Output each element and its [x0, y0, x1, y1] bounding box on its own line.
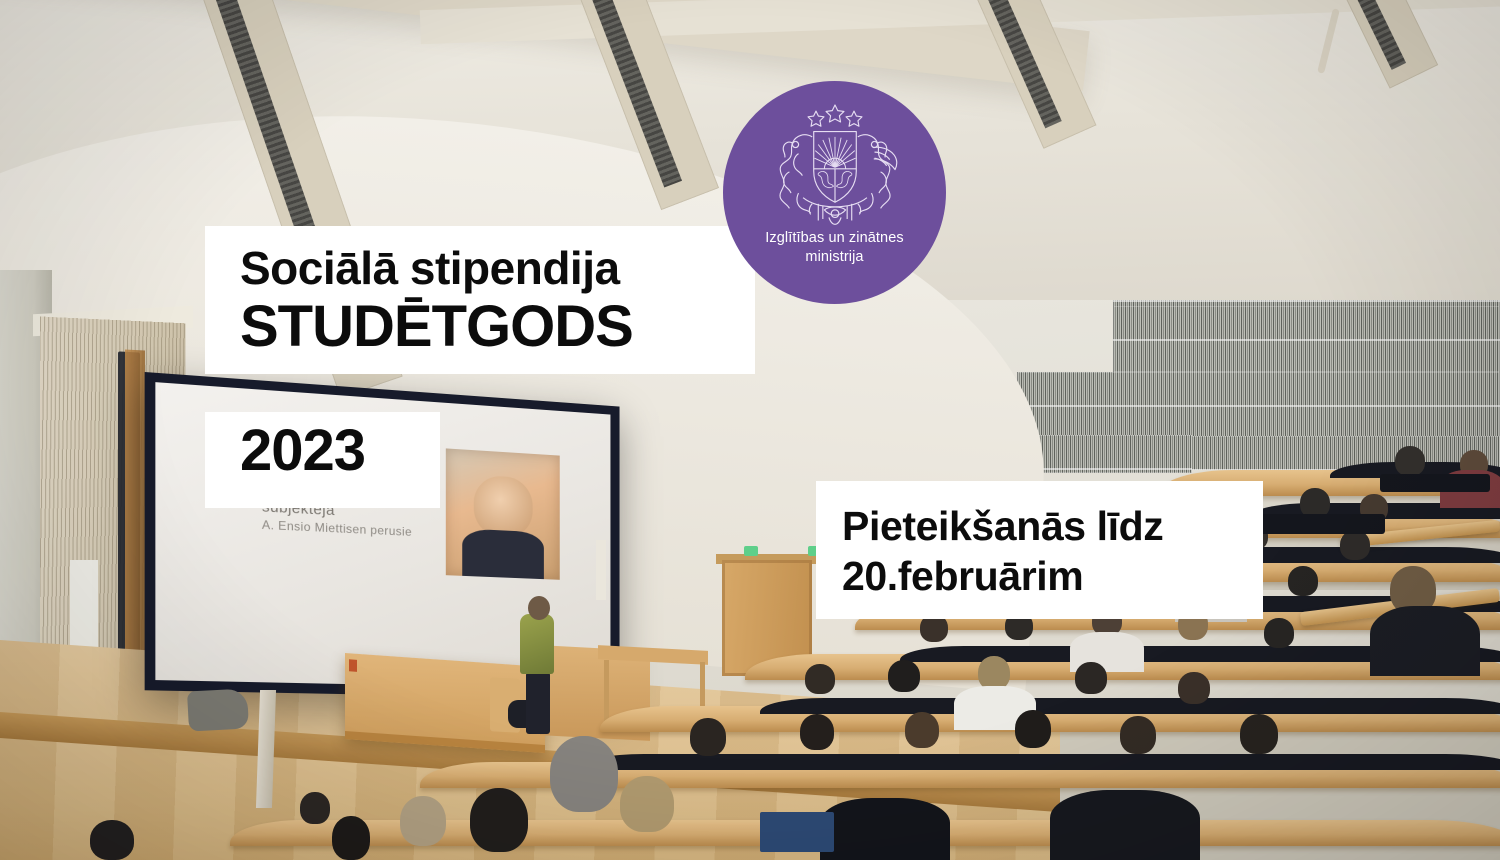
title-line-year: 2023	[205, 414, 440, 488]
audience-head	[332, 816, 370, 860]
audience-head	[800, 714, 834, 750]
audience-head	[1395, 446, 1425, 476]
exit-sign-left-icon	[744, 546, 758, 556]
audience-shoulders	[1370, 606, 1480, 676]
folded-seat	[1255, 514, 1385, 534]
screen-base-weight	[187, 688, 249, 731]
year-text-box: 2023	[205, 412, 440, 508]
audience-head	[1340, 530, 1370, 560]
audience-head	[1178, 672, 1210, 704]
acoustic-panel-8	[1022, 435, 1192, 473]
folded-seat	[1380, 474, 1490, 492]
audience-head	[905, 712, 939, 748]
deadline-line-2: 20.februārim	[816, 551, 1263, 601]
ministry-name-line1: Izglītības un zinātnes	[765, 229, 903, 248]
audience-head	[620, 776, 674, 832]
audience-head	[470, 788, 528, 852]
audience-head	[300, 792, 330, 824]
deadline-text-box: Pieteikšanās līdz 20.februārim	[816, 481, 1263, 619]
lecturer-body	[520, 614, 554, 674]
ministry-logo: Izglītības un zinātnes ministrija	[723, 81, 946, 304]
poster-canvas: subjekteja A. Ensio Miettisen perusie	[0, 0, 1500, 860]
audience-head	[90, 820, 134, 860]
ministry-logo-text: Izglītības un zinātnes ministrija	[765, 229, 903, 266]
title-line-subtitle: Sociālā stipendija	[205, 244, 755, 293]
audience-head	[550, 736, 618, 812]
title-line-program: STUDĒTGODS	[205, 293, 755, 368]
audience-shoulders	[1050, 790, 1200, 860]
seat-backs-3	[760, 698, 1500, 714]
ministry-name-line2: ministrija	[765, 248, 903, 267]
acoustic-panel-6	[1017, 372, 1500, 438]
seat-backs-2	[580, 754, 1500, 770]
audience-head	[1264, 618, 1294, 648]
wall-light-strip	[596, 540, 606, 600]
acoustic-panel-5	[1113, 306, 1500, 372]
lecturer-legs	[526, 672, 550, 734]
wood-trim-left	[125, 349, 145, 680]
lecturer-head	[528, 596, 550, 620]
audience-head	[690, 718, 726, 756]
audience-head	[805, 664, 835, 694]
audience-head	[1075, 662, 1107, 694]
audience-head	[1288, 566, 1318, 596]
audience-head	[888, 660, 920, 692]
audience-head	[400, 796, 446, 846]
laptop-screen	[760, 812, 834, 852]
title-text-box: Sociālā stipendija STUDĒTGODS	[205, 226, 755, 374]
audience-head	[1015, 710, 1051, 748]
slide-portrait-photo	[446, 448, 560, 580]
deadline-line-1: Pieteikšanās līdz	[816, 501, 1263, 551]
audience-head	[1240, 714, 1278, 754]
latvian-coat-of-arms-icon	[759, 97, 911, 227]
ceiling-hook	[1317, 8, 1340, 74]
audience-head	[1120, 716, 1156, 754]
audience-head	[978, 656, 1010, 690]
audience-shoulders	[820, 798, 950, 860]
